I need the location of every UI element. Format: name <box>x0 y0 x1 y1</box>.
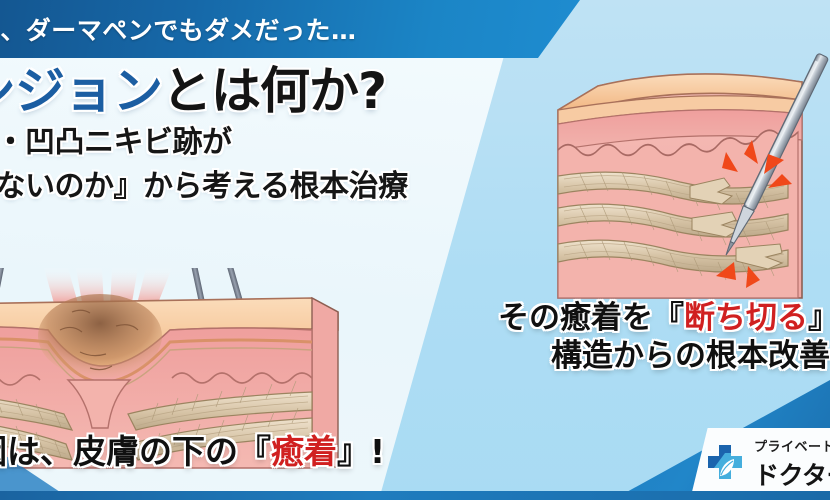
thumbnail-canvas: でも、ダーマペンでもダメだった… シジョンとは何か? ー・凹凸ニキビ跡が らない… <box>0 0 830 500</box>
title-rest: とは何か? <box>162 62 386 120</box>
left-caption-keyword: 癒着 <box>271 432 337 471</box>
right-caption-line-2: 構造からの根本改善 <box>498 338 830 376</box>
left-caption-suffix: ! <box>370 432 385 471</box>
right-caption-line-1: その癒着を『断ち切る』! <box>498 300 830 338</box>
title-highlight: シジョン <box>0 62 162 120</box>
logo-wordmark: プライベート ドクター <box>754 436 830 492</box>
logo-line-top: プライベート <box>754 436 830 455</box>
subcision-illustration <box>540 48 830 318</box>
subtitle-line-1: ー・凹凸ニキビ跡が <box>0 124 526 162</box>
bottom-accent-bar <box>0 491 830 500</box>
left-caption-prefix: 因は、皮膚の下の <box>0 432 238 471</box>
logo-line-bottom: ドクター <box>754 456 830 492</box>
left-caption-quote-close: 』 <box>337 432 370 471</box>
medical-cross-leaf-icon <box>704 443 746 485</box>
top-banner-text: でも、ダーマペンでもダメだった… <box>0 11 357 47</box>
left-caption: 因は、皮膚の下の『癒着』! <box>0 432 385 472</box>
headline-block: シジョンとは何か? ー・凹凸ニキビ跡が らないのか』から考える根本治療 <box>0 64 526 207</box>
right-caption: その癒着を『断ち切る』! 構造からの根本改善 <box>498 300 830 376</box>
clinic-logo[interactable]: プライベート ドクター <box>690 428 830 500</box>
right-caption-quote-open: 『 <box>653 300 684 336</box>
right-caption-prefix: その癒着を <box>498 300 653 336</box>
left-caption-quote-open: 『 <box>238 432 271 471</box>
page-title: シジョンとは何か? <box>0 64 526 118</box>
subtitle-line-2: らないのか』から考える根本治療 <box>0 168 526 206</box>
right-caption-keyword: 断ち切る <box>684 300 808 336</box>
right-caption-quote-close: 』 <box>808 300 830 336</box>
top-banner: でも、ダーマペンでもダメだった… <box>0 0 580 58</box>
